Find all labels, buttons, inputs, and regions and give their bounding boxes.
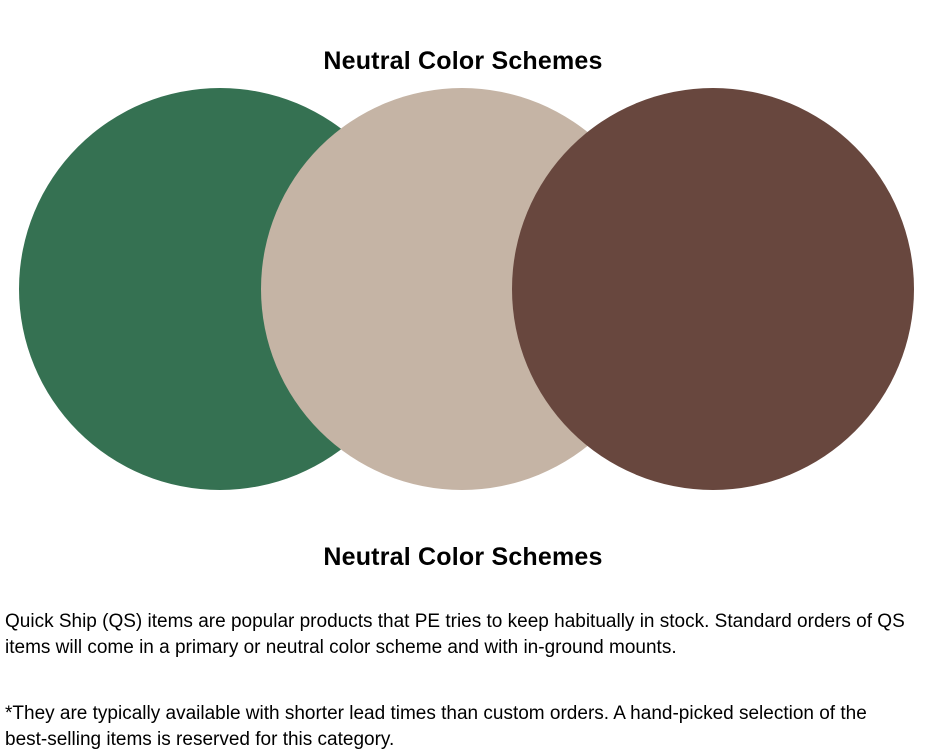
color-swatch-group <box>0 88 926 492</box>
description-paragraph-footnote: *They are typically available with short… <box>5 701 905 752</box>
page-title-top: Neutral Color Schemes <box>0 46 926 76</box>
slide-canvas: Neutral Color Schemes Neutral Color Sche… <box>0 0 926 752</box>
description-paragraph-primary: Quick Ship (QS) items are popular produc… <box>5 609 905 660</box>
color-swatch-brown <box>512 88 914 490</box>
page-title-bottom: Neutral Color Schemes <box>0 542 926 572</box>
